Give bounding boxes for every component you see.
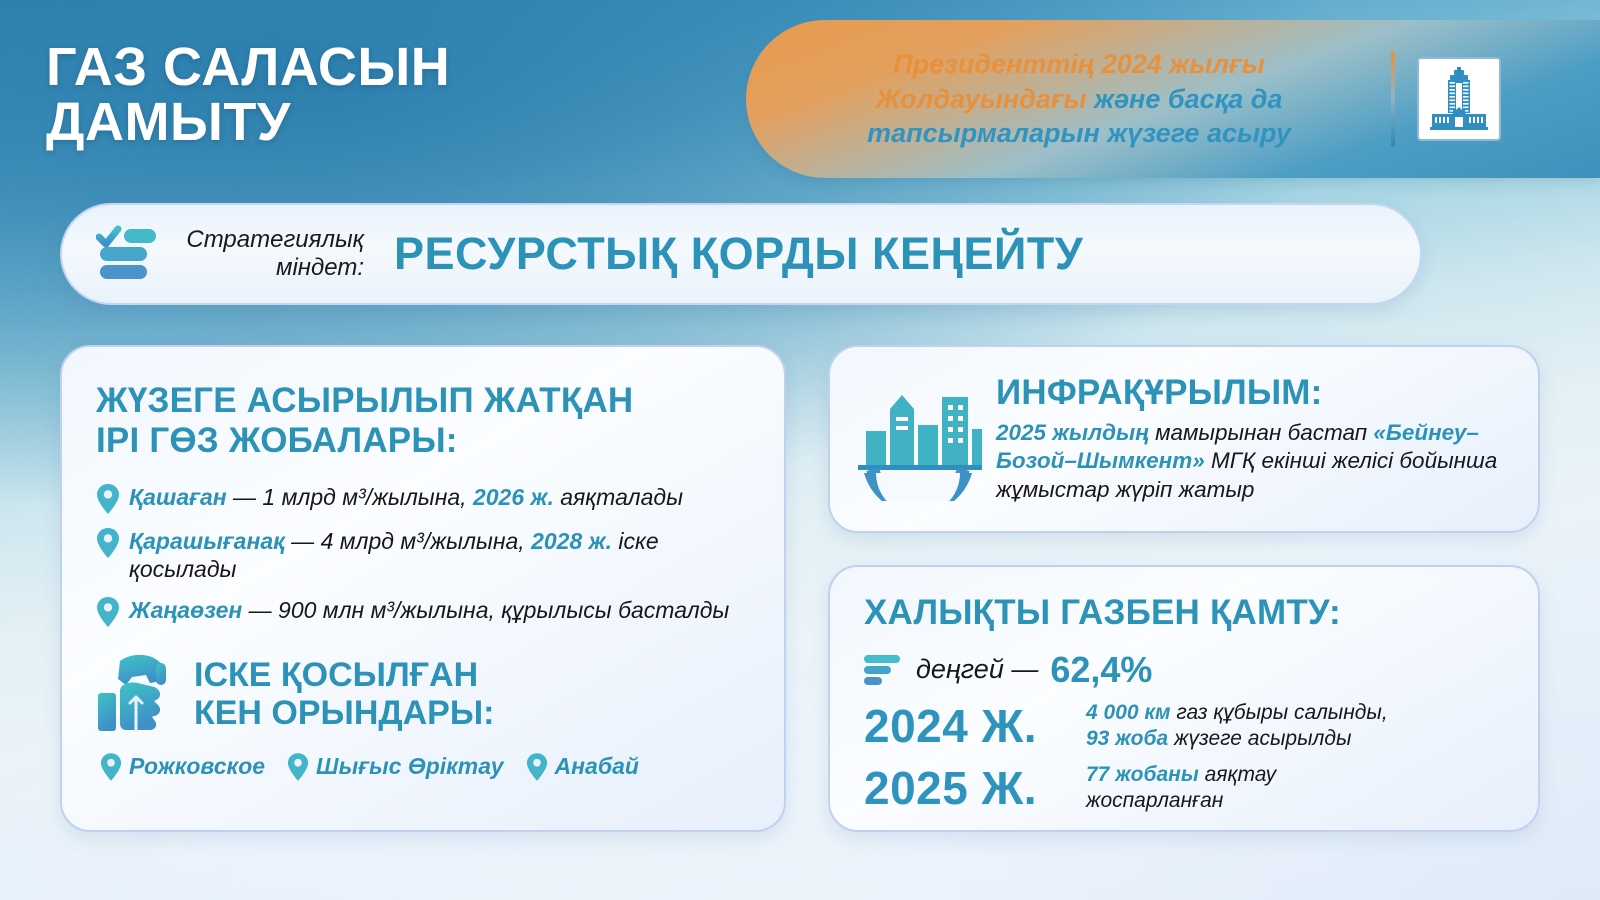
field-name: Шығыс Өріктау: [316, 753, 504, 780]
strategic-task-label: Стратегиялық міндет:: [174, 226, 364, 283]
project-tail: аяқталады: [554, 484, 683, 510]
year-tail: жүзеге асырылды: [1168, 727, 1351, 750]
year-description: 77 жобаны аяқтаужоспарланған: [1086, 762, 1276, 813]
infra-mid-1: мамырынан бастап: [1149, 420, 1374, 445]
project-tail: құрылысы басталды: [501, 597, 729, 623]
list-item-text: Қашаған — 1 млрд м³/жылына, 2026 ж. аяқт…: [129, 483, 683, 511]
year-accent-1: 77 жобаны: [1086, 763, 1199, 786]
bars-descending-icon: [864, 654, 902, 686]
infra-accent-1: 2025 жылдың: [996, 420, 1149, 445]
project-name: Жаңаөзен: [129, 597, 242, 623]
header-badge: Президенттің 2024 жылғы Жолдауындағы жән…: [755, 28, 1600, 170]
badge-line-2-rest: және басқа да: [1087, 84, 1283, 114]
page-title: ГАЗ САЛАСЫН ДАМЫТУ: [46, 40, 706, 150]
government-building-icon: [1417, 57, 1501, 141]
field-name: Рожковское: [129, 753, 265, 780]
strategic-task-banner: Стратегиялық міндет: РЕСУРСТЫҚ ҚОРДЫ КЕҢ…: [60, 203, 1422, 305]
map-pin-icon: [526, 753, 548, 781]
projects-bullet-list: Қашаған — 1 млрд м³/жылына, 2026 ж. аяқт…: [96, 483, 754, 627]
list-item-text: Жаңаөзен — 900 млн м³/жылына, құрылысы б…: [129, 596, 729, 624]
project-year: 2026 ж.: [473, 484, 554, 510]
project-year: 2028 ж.: [531, 528, 612, 554]
list-item: Шығыс Өріктау: [287, 753, 504, 781]
gas-coverage-card: ХАЛЫҚТЫ ГАЗБЕН ҚАМТУ: деңгей — 62,4% 202…: [828, 565, 1540, 832]
projects-title-line2: ІРІ ГӨЗ ЖОБАЛАРЫ:: [96, 421, 458, 460]
coverage-level-row: деңгей — 62,4%: [864, 649, 1512, 691]
fields-title-line2: КЕН ОРЫНДАРЫ:: [194, 694, 494, 732]
year-description: 4 000 км газ құбыры салынды,93 жоба жүзе…: [1086, 700, 1388, 751]
infographic-page: ГАЗ САЛАСЫН ДАМЫТУ Президенттің 2024 жыл…: [0, 0, 1600, 900]
project-name: Қарашығанақ: [129, 528, 285, 554]
map-pin-icon: [100, 753, 122, 781]
year-mid-1: аяқтау: [1199, 763, 1276, 786]
field-name: Анабай: [555, 753, 639, 780]
checklist-icon: [96, 225, 158, 283]
coverage-level-value: 62,4%: [1050, 649, 1152, 691]
city-gear-icon: [854, 373, 982, 501]
list-item: Анабай: [526, 753, 639, 781]
list-item: Қарашығанақ — 4 млрд м³/жылына, 2028 ж. …: [96, 527, 754, 583]
table-row: 2025 Ж. 77 жобаны аяқтаужоспарланған: [864, 761, 1512, 815]
coverage-level-label: деңгей —: [916, 654, 1038, 685]
infrastructure-card-title: ИНФРАҚҰРЫЛЫМ:: [996, 373, 1514, 413]
map-pin-icon: [287, 753, 309, 781]
list-item: Жаңаөзен — 900 млн м³/жылына, құрылысы б…: [96, 596, 754, 627]
year-accent-2: 93 жоба: [1086, 727, 1168, 750]
year-tail: жоспарланған: [1086, 789, 1223, 812]
project-sep: — 4 млрд м³/жылына,: [285, 528, 531, 554]
list-item: Рожковское: [100, 753, 265, 781]
badge-line-1: Президенттің 2024 жылғы: [893, 49, 1265, 79]
projects-card: ЖҮЗЕГЕ АСЫРЫЛЫП ЖАТҚАН ІРІ ГӨЗ ЖОБАЛАРЫ:…: [60, 345, 786, 832]
strategic-task-label-line2: міндет:: [276, 254, 364, 281]
infrastructure-card-text: 2025 жылдың мамырынан бастап «Бейнеу–Боз…: [996, 419, 1514, 504]
project-sep: — 900 млн м³/жылына,: [242, 597, 501, 623]
project-name: Қашаған: [129, 484, 227, 510]
commissioned-fields-list: Рожковское Шығыс Өріктау: [100, 753, 754, 781]
projects-card-title: ЖҮЗЕГЕ АСЫРЫЛЫП ЖАТҚАН ІРІ ГӨЗ ЖОБАЛАРЫ:: [96, 381, 754, 461]
year-mid-1: газ құбыры салынды,: [1171, 701, 1388, 724]
commissioned-fields-title: ІСКЕ ҚОСЫЛҒАН КЕН ОРЫНДАРЫ:: [194, 656, 494, 732]
commissioned-fields-header: ІСКЕ ҚОСЫЛҒАН КЕН ОРЫНДАРЫ:: [96, 651, 754, 737]
map-pin-icon: [96, 597, 120, 627]
project-sep: — 1 млрд м³/жылына,: [227, 484, 473, 510]
year-label: 2024 Ж.: [864, 699, 1086, 753]
infrastructure-card: ИНФРАҚҰРЫЛЫМ: 2025 жылдың мамырынан баст…: [828, 345, 1540, 533]
fields-title-line1: ІСКЕ ҚОСЫЛҒАН: [194, 656, 478, 694]
badge-line-3: тапсырмаларын жүзеге асыру: [867, 118, 1291, 148]
gas-coverage-card-title: ХАЛЫҚТЫ ГАЗБЕН ҚАМТУ:: [864, 593, 1512, 633]
year-accent-1: 4 000 км: [1086, 701, 1171, 724]
map-pin-icon: [96, 528, 120, 558]
badge-line-2-accent: Жолдауындағы: [875, 84, 1086, 114]
badge-divider: [1391, 51, 1395, 147]
list-item: Қашаған — 1 млрд м³/жылына, 2026 ж. аяқт…: [96, 483, 754, 514]
list-item-text: Қарашығанақ — 4 млрд м³/жылына, 2028 ж. …: [129, 527, 754, 583]
projects-title-line1: ЖҮЗЕГЕ АСЫРЫЛЫП ЖАТҚАН: [96, 381, 633, 420]
strategic-task-label-line1: Стратегиялық: [186, 226, 364, 253]
header-badge-text: Президенттің 2024 жылғы Жолдауындағы жән…: [755, 47, 1385, 151]
year-label: 2025 Ж.: [864, 761, 1086, 815]
map-pin-icon: [96, 484, 120, 514]
table-row: 2024 Ж. 4 000 км газ құбыры салынды,93 ж…: [864, 699, 1512, 753]
strategic-task-value: РЕСУРСТЫҚ ҚОРДЫ КЕҢЕЙТУ: [394, 228, 1083, 280]
hand-industry-icon: [96, 651, 180, 737]
